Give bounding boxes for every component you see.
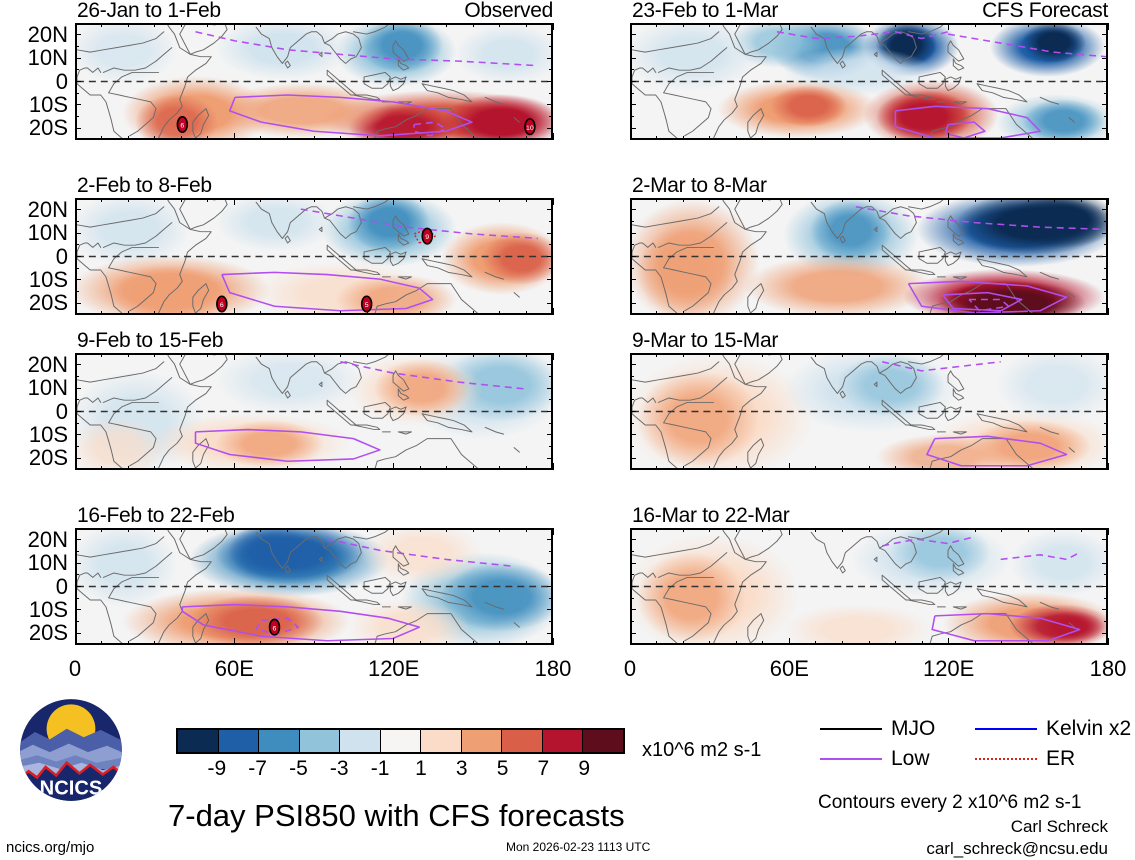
colorbar-swatch-5 bbox=[381, 730, 422, 752]
axis-tick bbox=[975, 198, 976, 202]
axis-tick bbox=[553, 528, 554, 535]
axis-tick bbox=[1102, 34, 1108, 35]
axis-tick bbox=[287, 23, 288, 27]
axis-tick bbox=[1102, 58, 1108, 59]
axis-tick bbox=[547, 539, 553, 540]
axis-tick bbox=[154, 311, 155, 315]
axis-tick bbox=[975, 23, 976, 27]
axis-tick bbox=[367, 528, 368, 532]
axis-tick bbox=[75, 244, 79, 245]
axis-tick bbox=[789, 308, 790, 315]
contour-note: Contours every 2 x10^6 m2 s-1 bbox=[818, 793, 1081, 812]
map-panel-forecast-row2[interactable] bbox=[630, 353, 1108, 470]
map-overlay bbox=[77, 355, 551, 468]
axis-tick bbox=[128, 353, 129, 357]
axis-tick bbox=[75, 34, 81, 35]
y-axis-label-10N: 10N bbox=[0, 47, 68, 69]
axis-tick bbox=[630, 563, 636, 564]
map-panel-observed-row2[interactable] bbox=[75, 353, 553, 470]
axis-tick bbox=[842, 641, 843, 645]
axis-tick bbox=[683, 23, 684, 27]
axis-tick bbox=[547, 364, 553, 365]
axis-tick bbox=[181, 466, 182, 470]
axis-tick bbox=[656, 528, 657, 532]
axis-tick bbox=[234, 463, 235, 470]
axis-tick bbox=[128, 198, 129, 202]
axis-tick bbox=[630, 133, 631, 140]
wave-contours bbox=[882, 362, 1066, 466]
ncics-logo[interactable]: NCICS bbox=[18, 697, 124, 803]
axis-tick bbox=[1028, 528, 1029, 532]
axis-tick bbox=[340, 311, 341, 315]
axis-tick bbox=[869, 641, 870, 645]
svg-text:5: 5 bbox=[365, 302, 369, 309]
axis-tick bbox=[287, 198, 288, 202]
map-overlay bbox=[632, 25, 1106, 138]
axis-tick bbox=[75, 104, 81, 105]
axis-tick bbox=[630, 244, 634, 245]
axis-tick bbox=[630, 93, 634, 94]
axis-tick bbox=[1081, 466, 1082, 470]
axis-tick bbox=[1054, 641, 1055, 645]
colorbar[interactable] bbox=[176, 728, 625, 754]
axis-tick bbox=[75, 609, 81, 610]
axis-tick bbox=[420, 353, 421, 357]
axis-tick bbox=[547, 209, 553, 210]
axis-tick bbox=[181, 311, 182, 315]
axis-tick bbox=[128, 23, 129, 27]
axis-tick bbox=[922, 641, 923, 645]
axis-tick bbox=[1028, 23, 1029, 27]
axis-tick bbox=[526, 311, 527, 315]
legend-label: MJO bbox=[891, 718, 935, 739]
axis-tick bbox=[207, 136, 208, 140]
axis-tick bbox=[815, 23, 816, 27]
axis-tick bbox=[287, 311, 288, 315]
map-overlay bbox=[632, 200, 1106, 313]
axis-tick bbox=[287, 466, 288, 470]
axis-tick bbox=[1054, 311, 1055, 315]
axis-tick bbox=[549, 574, 553, 575]
legend-entry-kelvin-x2: Kelvin x2 bbox=[975, 718, 1131, 739]
axis-tick bbox=[340, 641, 341, 645]
cyclone-markers: 6 bbox=[270, 619, 280, 634]
axis-tick bbox=[1054, 23, 1055, 27]
legend-entry-er: ER bbox=[975, 748, 1075, 769]
axis-tick bbox=[736, 528, 737, 532]
main-title: 7-day PSI850 with CFS forecasts bbox=[168, 800, 625, 831]
y-axis-label-20S: 20S bbox=[0, 622, 68, 644]
axis-tick bbox=[1108, 198, 1109, 205]
axis-tick bbox=[75, 621, 79, 622]
svg-text:9: 9 bbox=[425, 234, 429, 241]
axis-tick bbox=[1081, 311, 1082, 315]
axis-tick bbox=[553, 198, 554, 205]
axis-tick bbox=[499, 466, 500, 470]
axis-tick bbox=[656, 466, 657, 470]
axis-tick bbox=[656, 641, 657, 645]
axis-tick bbox=[340, 353, 341, 357]
axis-tick bbox=[234, 528, 235, 535]
axis-tick bbox=[473, 353, 474, 357]
axis-tick bbox=[340, 198, 341, 202]
axis-tick bbox=[948, 353, 949, 360]
map-panel-forecast-row1[interactable] bbox=[630, 198, 1108, 315]
axis-tick bbox=[128, 641, 129, 645]
axis-tick bbox=[630, 621, 634, 622]
axis-tick bbox=[1001, 466, 1002, 470]
axis-tick bbox=[549, 244, 553, 245]
axis-tick bbox=[922, 311, 923, 315]
axis-tick bbox=[547, 58, 553, 59]
axis-tick bbox=[393, 528, 394, 535]
x-axis-label-col1-60E: 60E bbox=[739, 658, 839, 680]
axis-tick bbox=[1001, 311, 1002, 315]
axis-tick bbox=[975, 466, 976, 470]
axis-tick bbox=[314, 641, 315, 645]
axis-tick bbox=[842, 136, 843, 140]
axis-tick bbox=[75, 563, 81, 564]
axis-tick bbox=[1102, 434, 1108, 435]
axis-tick bbox=[128, 311, 129, 315]
axis-tick bbox=[547, 303, 553, 304]
axis-tick bbox=[869, 466, 870, 470]
axis-tick bbox=[260, 136, 261, 140]
axis-tick bbox=[1108, 133, 1109, 140]
axis-tick bbox=[75, 423, 79, 424]
axis-tick bbox=[526, 23, 527, 27]
axis-tick bbox=[1102, 279, 1108, 280]
axis-tick bbox=[736, 311, 737, 315]
axis-tick bbox=[630, 411, 636, 412]
axis-tick bbox=[549, 221, 553, 222]
axis-tick bbox=[207, 353, 208, 357]
axis-tick bbox=[948, 133, 949, 140]
map-overlay bbox=[632, 355, 1106, 468]
axis-tick bbox=[1028, 198, 1029, 202]
axis-tick bbox=[75, 598, 79, 599]
axis-tick bbox=[526, 466, 527, 470]
axis-tick bbox=[630, 364, 636, 365]
axis-tick bbox=[553, 308, 554, 315]
axis-tick bbox=[314, 353, 315, 357]
axis-tick bbox=[709, 136, 710, 140]
axis-tick bbox=[75, 279, 81, 280]
panel-title-16-mar-to-22-mar: 16-Mar to 22-Mar bbox=[632, 505, 789, 526]
axis-tick bbox=[869, 198, 870, 202]
axis-tick bbox=[154, 23, 155, 27]
axis-tick bbox=[895, 528, 896, 532]
axis-tick bbox=[75, 633, 81, 634]
axis-tick bbox=[630, 34, 636, 35]
legend-label: ER bbox=[1046, 748, 1075, 769]
axis-tick bbox=[547, 81, 553, 82]
axis-tick bbox=[842, 466, 843, 470]
axis-tick bbox=[762, 136, 763, 140]
axis-tick bbox=[547, 34, 553, 35]
axis-tick bbox=[75, 586, 81, 587]
axis-tick bbox=[630, 69, 634, 70]
colorbar-swatch-4 bbox=[340, 730, 381, 752]
axis-tick bbox=[1102, 388, 1108, 389]
axis-tick bbox=[547, 256, 553, 257]
axis-tick bbox=[75, 133, 76, 140]
panel-title-9-feb-to-15-feb: 9-Feb to 15-Feb bbox=[77, 330, 223, 351]
axis-tick bbox=[549, 446, 553, 447]
axis-tick bbox=[75, 268, 79, 269]
axis-tick bbox=[895, 23, 896, 27]
axis-tick bbox=[207, 466, 208, 470]
axis-tick bbox=[948, 198, 949, 205]
y-axis-label-20S: 20S bbox=[0, 447, 68, 469]
axis-tick bbox=[75, 411, 81, 412]
svg-text:6: 6 bbox=[273, 625, 277, 632]
axis-tick bbox=[1028, 311, 1029, 315]
axis-tick bbox=[75, 551, 79, 552]
legend-label: Low bbox=[891, 748, 930, 769]
axis-tick bbox=[287, 528, 288, 532]
axis-tick bbox=[154, 466, 155, 470]
axis-tick bbox=[842, 528, 843, 532]
axis-tick bbox=[630, 81, 636, 82]
axis-tick bbox=[75, 574, 79, 575]
axis-tick bbox=[630, 308, 631, 315]
panel-title-16-feb-to-22-feb: 16-Feb to 22-Feb bbox=[77, 505, 234, 526]
axis-tick bbox=[1102, 128, 1108, 129]
map-panel-observed-row0[interactable]: 610 bbox=[75, 23, 553, 140]
column-header-cfs-forecast: CFS Forecast bbox=[630, 0, 1108, 21]
axis-tick bbox=[1104, 551, 1108, 552]
axis-tick bbox=[709, 198, 710, 202]
axis-tick bbox=[549, 621, 553, 622]
axis-tick bbox=[75, 434, 81, 435]
axis-tick bbox=[553, 23, 554, 30]
legend-entry-low: Low bbox=[820, 748, 930, 769]
axis-tick bbox=[1028, 466, 1029, 470]
axis-tick bbox=[1081, 353, 1082, 357]
axis-tick bbox=[1102, 303, 1108, 304]
axis-tick bbox=[75, 46, 79, 47]
axis-tick bbox=[1102, 81, 1108, 82]
axis-tick bbox=[314, 136, 315, 140]
axis-tick bbox=[75, 23, 76, 30]
axis-tick bbox=[526, 136, 527, 140]
axis-tick bbox=[181, 528, 182, 532]
axis-tick bbox=[948, 23, 949, 30]
axis-tick bbox=[420, 466, 421, 470]
axis-tick bbox=[547, 458, 553, 459]
axis-tick bbox=[287, 641, 288, 645]
axis-tick bbox=[630, 638, 631, 645]
axis-tick bbox=[473, 23, 474, 27]
axis-tick bbox=[547, 633, 553, 634]
axis-tick bbox=[630, 116, 634, 117]
axis-tick bbox=[630, 104, 636, 105]
axis-tick bbox=[762, 311, 763, 315]
axis-tick bbox=[260, 311, 261, 315]
axis-tick bbox=[842, 198, 843, 202]
axis-tick bbox=[393, 23, 394, 30]
axis-tick bbox=[547, 411, 553, 412]
axis-tick bbox=[683, 641, 684, 645]
axis-tick bbox=[683, 136, 684, 140]
axis-tick bbox=[181, 353, 182, 357]
axis-tick bbox=[420, 23, 421, 27]
axis-tick bbox=[101, 641, 102, 645]
axis-tick bbox=[842, 353, 843, 357]
axis-tick bbox=[553, 638, 554, 645]
axis-tick bbox=[393, 308, 394, 315]
axis-tick bbox=[1108, 463, 1109, 470]
site-url: ncics.org/mjo bbox=[6, 840, 94, 855]
axis-tick bbox=[128, 136, 129, 140]
axis-tick bbox=[473, 466, 474, 470]
axis-tick bbox=[922, 23, 923, 27]
panel-title-2-mar-to-8-mar: 2-Mar to 8-Mar bbox=[632, 175, 767, 196]
axis-tick bbox=[1081, 136, 1082, 140]
axis-tick bbox=[630, 268, 634, 269]
axis-tick bbox=[207, 528, 208, 532]
axis-tick bbox=[736, 353, 737, 357]
axis-tick bbox=[630, 376, 634, 377]
axis-tick bbox=[234, 638, 235, 645]
axis-tick bbox=[314, 528, 315, 532]
axis-tick bbox=[1102, 364, 1108, 365]
axis-tick bbox=[499, 528, 500, 532]
axis-tick bbox=[630, 423, 634, 424]
axis-tick bbox=[869, 528, 870, 532]
axis-tick bbox=[207, 198, 208, 202]
axis-tick bbox=[1102, 209, 1108, 210]
axis-tick bbox=[842, 23, 843, 27]
axis-tick bbox=[75, 198, 76, 205]
axis-tick bbox=[473, 641, 474, 645]
axis-tick bbox=[234, 353, 235, 360]
map-overlay: 610 bbox=[77, 25, 551, 138]
colorbar-units: x10^6 m2 s-1 bbox=[642, 740, 761, 760]
axis-tick bbox=[549, 69, 553, 70]
axis-tick bbox=[547, 233, 553, 234]
axis-tick bbox=[1102, 411, 1108, 412]
colorbar-swatch-1 bbox=[219, 730, 260, 752]
axis-tick bbox=[630, 23, 631, 30]
axis-tick bbox=[762, 198, 763, 202]
axis-tick bbox=[340, 136, 341, 140]
axis-tick bbox=[101, 23, 102, 27]
axis-tick bbox=[789, 463, 790, 470]
map-panel-forecast-row3[interactable] bbox=[630, 528, 1108, 645]
axis-tick bbox=[1108, 638, 1109, 645]
axis-tick bbox=[128, 528, 129, 532]
axis-tick bbox=[789, 23, 790, 30]
axis-tick bbox=[526, 198, 527, 202]
y-axis-label-10S: 10S bbox=[0, 424, 68, 446]
svg-text:NCICS: NCICS bbox=[40, 778, 103, 800]
axis-tick bbox=[393, 133, 394, 140]
axis-tick bbox=[630, 58, 636, 59]
axis-tick bbox=[549, 116, 553, 117]
axis-tick bbox=[75, 69, 79, 70]
axis-tick bbox=[895, 311, 896, 315]
x-axis-label-col0-120E: 120E bbox=[344, 658, 444, 680]
axis-tick bbox=[101, 528, 102, 532]
axis-tick bbox=[895, 198, 896, 202]
axis-tick bbox=[75, 93, 79, 94]
colorbar-swatch-3 bbox=[300, 730, 341, 752]
axis-tick bbox=[656, 23, 657, 27]
axis-tick bbox=[1028, 136, 1029, 140]
axis-tick bbox=[630, 46, 634, 47]
axis-tick bbox=[549, 423, 553, 424]
axis-tick bbox=[75, 458, 81, 459]
axis-tick bbox=[922, 466, 923, 470]
map-panel-forecast-row0[interactable] bbox=[630, 23, 1108, 140]
axis-tick bbox=[75, 399, 79, 400]
axis-tick bbox=[340, 466, 341, 470]
axis-tick bbox=[75, 528, 76, 535]
axis-tick bbox=[499, 311, 500, 315]
axis-tick bbox=[630, 221, 634, 222]
axis-tick bbox=[1102, 563, 1108, 564]
axis-tick bbox=[367, 353, 368, 357]
map-panel-observed-row1[interactable]: 965 bbox=[75, 198, 553, 315]
axis-tick bbox=[75, 638, 76, 645]
axis-tick bbox=[1104, 598, 1108, 599]
axis-tick bbox=[101, 353, 102, 357]
axis-tick bbox=[630, 303, 636, 304]
axis-tick bbox=[630, 528, 631, 535]
legend-label: Kelvin x2 bbox=[1046, 718, 1131, 739]
axis-tick bbox=[630, 539, 636, 540]
axis-tick bbox=[260, 23, 261, 27]
axis-tick bbox=[630, 291, 634, 292]
axis-tick bbox=[1104, 268, 1108, 269]
axis-tick bbox=[234, 23, 235, 30]
axis-tick bbox=[922, 198, 923, 202]
y-axis-label-0: 0 bbox=[0, 71, 68, 93]
axis-tick bbox=[1081, 198, 1082, 202]
axis-tick bbox=[1104, 574, 1108, 575]
y-axis-label-10S: 10S bbox=[0, 269, 68, 291]
axis-tick bbox=[420, 311, 421, 315]
author-name: Carl Schreck bbox=[818, 818, 1108, 835]
y-axis-label-20N: 20N bbox=[0, 199, 68, 221]
axis-tick bbox=[1054, 528, 1055, 532]
axis-tick bbox=[1104, 93, 1108, 94]
axis-tick bbox=[709, 353, 710, 357]
axis-tick bbox=[75, 221, 79, 222]
axis-tick bbox=[1102, 233, 1108, 234]
axis-tick bbox=[1001, 136, 1002, 140]
axis-tick bbox=[1081, 641, 1082, 645]
axis-tick bbox=[630, 399, 634, 400]
axis-tick bbox=[630, 574, 634, 575]
axis-tick bbox=[895, 466, 896, 470]
axis-tick bbox=[1054, 198, 1055, 202]
author-email: carl_schreck@ncsu.edu bbox=[818, 840, 1108, 857]
map-panel-observed-row3[interactable]: 6 bbox=[75, 528, 553, 645]
axis-tick bbox=[367, 641, 368, 645]
axis-tick bbox=[630, 633, 636, 634]
axis-tick bbox=[154, 641, 155, 645]
axis-tick bbox=[630, 279, 636, 280]
axis-tick bbox=[367, 466, 368, 470]
axis-tick bbox=[260, 528, 261, 532]
axis-tick bbox=[314, 23, 315, 27]
axis-tick bbox=[367, 136, 368, 140]
axis-tick bbox=[630, 458, 636, 459]
axis-tick bbox=[1102, 539, 1108, 540]
